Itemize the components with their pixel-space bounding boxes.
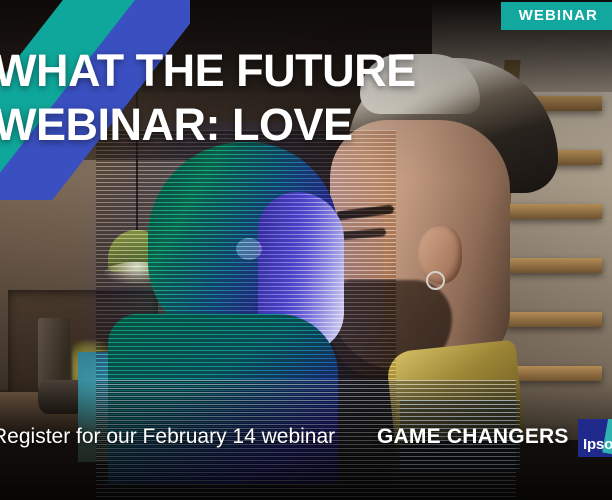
program-name: GAME CHANGERS	[377, 424, 569, 450]
headline-line-2: WEBINAR: LOVE	[0, 98, 416, 152]
webinar-promo-banner: WEBINAR WHAT THE FUTURE WEBINAR: LOVE Re…	[0, 0, 612, 500]
headline: WHAT THE FUTURE WEBINAR: LOVE	[0, 44, 416, 152]
ipsos-wordmark: Ipsos	[583, 436, 612, 453]
headline-line-1: WHAT THE FUTURE	[0, 44, 416, 98]
webinar-badge: WEBINAR	[501, 2, 612, 30]
earring-icon	[426, 271, 445, 290]
ipsos-logo: Ipsos	[578, 419, 612, 457]
cta-text[interactable]: Register for our February 14 webinar	[0, 424, 335, 450]
